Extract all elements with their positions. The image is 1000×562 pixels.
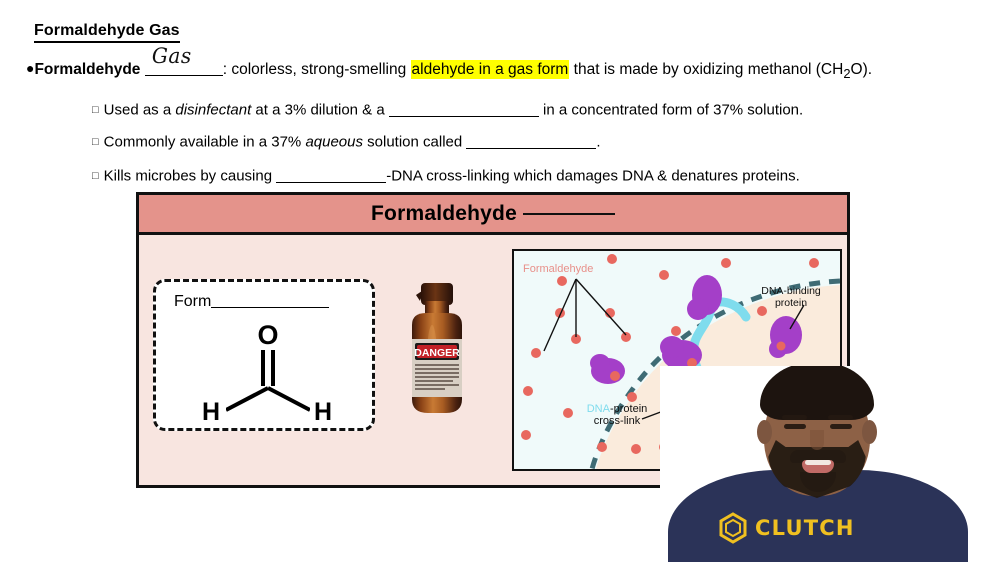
sub1-text-c: in a concentrated form of 37% solution. bbox=[539, 102, 803, 119]
label-crosslink-line2: cross-link bbox=[594, 415, 640, 427]
sub1-blank bbox=[389, 116, 539, 117]
eyebrow-right bbox=[828, 415, 853, 420]
highlighted-definition: aldehyde in a gas form bbox=[411, 60, 570, 79]
label-formaldehyde: Formaldehyde bbox=[523, 263, 593, 275]
sub2-text-b: solution called bbox=[363, 134, 466, 151]
sub-bullet-3: □Kills microbes by causing -DNA cross-li… bbox=[92, 166, 800, 187]
eye-right bbox=[830, 424, 852, 429]
slide-page: Formaldehyde Gas ●Formaldehyde Gas : col… bbox=[0, 0, 1000, 562]
page-title: Formaldehyde Gas bbox=[34, 22, 180, 43]
label-dnab-line2: protein bbox=[775, 297, 807, 309]
formula-subscript: 2 bbox=[843, 66, 850, 81]
main-bullet-term: Formaldehyde bbox=[34, 61, 140, 78]
hexagon-ring-icon bbox=[718, 512, 748, 544]
main-bullet-text-c: O). bbox=[851, 61, 873, 78]
sub1-text-a: Used as a bbox=[104, 102, 176, 119]
figure-header-title: Formaldehyde bbox=[371, 202, 517, 226]
label-crosslink-dna: DNA bbox=[587, 403, 610, 415]
molecule-label-blank bbox=[211, 307, 329, 308]
molecule-label-prefix: Form bbox=[174, 293, 211, 310]
sub-bullet-1: □Used as a disinfectant at a 3% dilution… bbox=[92, 100, 803, 121]
checkbox-glyph-1: □ bbox=[92, 104, 99, 116]
sub3-text-c: -DNA cross-linking which damages DNA & d… bbox=[386, 168, 800, 185]
ear-left bbox=[757, 420, 772, 444]
main-bullet-line: ●Formaldehyde Gas : colorless, strong-sm… bbox=[26, 56, 872, 86]
nose bbox=[810, 430, 824, 450]
figure-header-blank bbox=[523, 213, 615, 215]
sub2-blank bbox=[466, 148, 596, 149]
amber-jug-icon: DANGER bbox=[394, 273, 510, 441]
label-crosslink-rest: -protein bbox=[610, 403, 647, 415]
sub-bullet-2: □Commonly available in a 37% aqueous sol… bbox=[92, 132, 601, 153]
checkbox-glyph-3: □ bbox=[92, 170, 99, 182]
chemical-bottle: DANGER bbox=[394, 273, 510, 441]
fill-in-blank-answer-gas: Gas bbox=[145, 56, 223, 78]
main-bullet-text-b: that is made by oxidizing methanol (CH bbox=[569, 61, 843, 78]
teeth bbox=[805, 460, 831, 465]
clutch-logo: CLUTCH bbox=[718, 512, 855, 544]
ear-right bbox=[862, 420, 877, 444]
sub3-text-a: Kills microbes by causing bbox=[104, 168, 277, 185]
molecule-card: Form O H H bbox=[153, 279, 375, 431]
danger-label-text: DANGER bbox=[414, 347, 460, 359]
hair bbox=[760, 366, 874, 420]
label-dnab-line1: DNA-binding bbox=[761, 285, 821, 297]
eyebrow-left bbox=[782, 415, 807, 420]
answer-underline bbox=[145, 75, 223, 76]
handwritten-answer: Gas bbox=[152, 44, 192, 68]
atom-oxygen: O bbox=[257, 320, 278, 350]
sub1-italic: disinfectant bbox=[175, 102, 251, 119]
atom-hydrogen-left: H bbox=[202, 398, 220, 424]
sub2-text-a: Commonly available in a 37% bbox=[104, 134, 306, 151]
checkbox-glyph-2: □ bbox=[92, 136, 99, 148]
molecule-card-label: Form bbox=[174, 293, 329, 311]
eye-left bbox=[784, 424, 806, 429]
atom-hydrogen-right: H bbox=[314, 398, 332, 424]
label-dna-protein-crosslink: DNA-protein cross-link bbox=[569, 403, 665, 427]
sub1-text-b: at a 3% dilution & a bbox=[251, 102, 389, 119]
sub2-text-c: . bbox=[596, 134, 600, 151]
sub2-italic: aqueous bbox=[305, 134, 363, 151]
label-dna-binding-protein: DNA-binding protein bbox=[748, 285, 834, 309]
clutch-logo-text: CLUTCH bbox=[755, 516, 855, 540]
webcam-overlay: CLUTCH bbox=[660, 366, 1000, 562]
main-bullet-text-a: : colorless, strong-smelling bbox=[223, 61, 411, 78]
sub3-blank bbox=[276, 182, 386, 183]
figure-header-bar: Formaldehyde bbox=[139, 195, 847, 235]
formaldehyde-structure-svg: O H H bbox=[196, 316, 338, 424]
